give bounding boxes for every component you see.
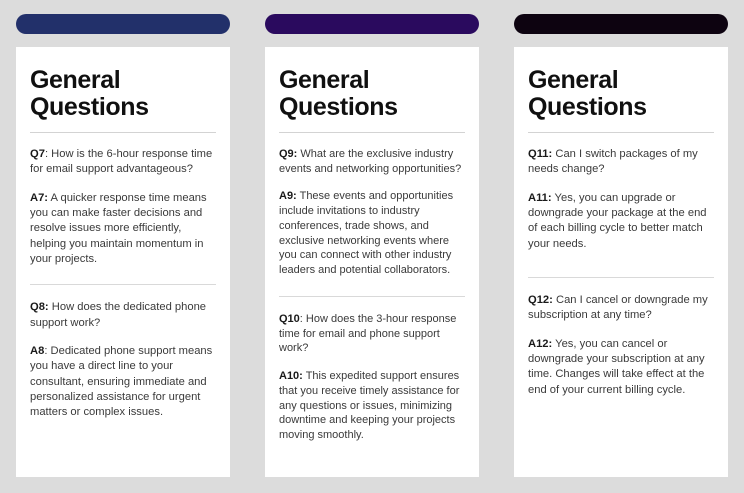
card-1-question-1: Q7: How is the 6-hour response time for … — [30, 147, 216, 178]
question-text: How does the 3-hour response time for em… — [279, 313, 456, 354]
card-1-answer-2: A8: Dedicated phone support means you ha… — [30, 344, 216, 421]
column-3-top-bar — [514, 14, 728, 34]
card-3-question-2: Q12: Can I cancel or downgrade my subscr… — [528, 293, 714, 324]
column-2-top-bar — [265, 14, 479, 34]
faq-card-2: General Questions Q9: What are the exclu… — [265, 47, 479, 477]
card-2-qa-block-1: Q9: What are the exclusive industry even… — [279, 133, 465, 278]
question-text: How does the dedicated phone support wor… — [30, 301, 206, 328]
card-2-title: General Questions — [279, 67, 465, 121]
faq-column-3: General Questions Q11: Can I switch pack… — [514, 0, 728, 493]
card-1-qa-block-1: Q7: How is the 6-hour response time for … — [30, 133, 216, 267]
card-2-answer-1: A9: These events and opportunities inclu… — [279, 189, 465, 277]
question-tag: Q7 — [30, 148, 45, 160]
card-2-question-1: Q9: What are the exclusive industry even… — [279, 147, 465, 176]
answer-tag: A12: — [528, 338, 552, 350]
question-text: What are the exclusive industry events a… — [279, 148, 461, 175]
answer-text: Dedicated phone support means you have a… — [30, 345, 212, 418]
question-tag: Q9: — [279, 148, 297, 160]
card-1-question-2: Q8: How does the dedicated phone support… — [30, 300, 216, 331]
card-3-answer-2: A12: Yes, you can cancel or downgrade yo… — [528, 337, 714, 398]
card-2-question-2: Q10: How does the 3-hour response time f… — [279, 312, 465, 356]
answer-text: Yes, you can cancel or downgrade your su… — [528, 338, 705, 396]
card-1-answer-1: A7: A quicker response time means you ca… — [30, 191, 216, 268]
answer-text: A quicker response time means you can ma… — [30, 192, 207, 265]
card-2-spacer — [279, 278, 465, 296]
answer-tag: A11: — [528, 192, 552, 204]
card-3-qa-block-2: Q12: Can I cancel or downgrade my subscr… — [528, 278, 714, 398]
answer-tag: A9: — [279, 190, 297, 202]
faq-column-1: General Questions Q7: How is the 6-hour … — [16, 0, 230, 493]
answer-text: This expedited support ensures that you … — [279, 370, 459, 441]
card-3-answer-1: A11: Yes, you can upgrade or downgrade y… — [528, 191, 714, 252]
question-text: How is the 6-hour response time for emai… — [30, 148, 212, 175]
answer-text: These events and opportunities include i… — [279, 190, 453, 276]
answer-tag: A8 — [30, 345, 44, 357]
faq-column-2: General Questions Q9: What are the exclu… — [265, 0, 479, 493]
question-tag: Q12: — [528, 294, 553, 306]
column-1-top-bar — [16, 14, 230, 34]
answer-text: Yes, you can upgrade or downgrade your p… — [528, 192, 707, 250]
card-2-qa-block-2: Q10: How does the 3-hour response time f… — [279, 297, 465, 443]
answer-tag: A10: — [279, 370, 303, 382]
card-3-question-1: Q11: Can I switch packages of my needs c… — [528, 147, 714, 178]
question-tag: Q8: — [30, 301, 49, 313]
card-3-title: General Questions — [528, 67, 714, 121]
faq-card-1: General Questions Q7: How is the 6-hour … — [16, 47, 230, 477]
faq-card-3: General Questions Q11: Can I switch pack… — [514, 47, 728, 477]
question-tag: Q11: — [528, 148, 552, 160]
faq-board: General Questions Q7: How is the 6-hour … — [0, 0, 744, 493]
card-3-qa-block-1: Q11: Can I switch packages of my needs c… — [528, 133, 714, 252]
card-1-qa-block-2: Q8: How does the dedicated phone support… — [30, 285, 216, 420]
question-tag: Q10 — [279, 313, 300, 325]
card-1-spacer — [30, 267, 216, 284]
card-3-spacer — [528, 252, 714, 277]
card-1-title: General Questions — [30, 67, 216, 121]
card-2-answer-2: A10: This expedited support ensures that… — [279, 369, 465, 443]
answer-tag: A7: — [30, 192, 48, 204]
